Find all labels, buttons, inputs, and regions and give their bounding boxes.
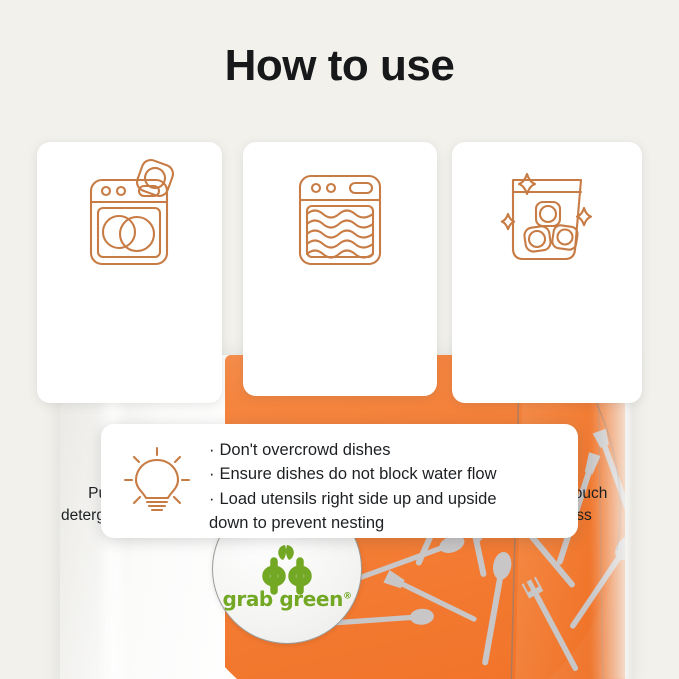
tip-item-text: Don't overcrowd dishes — [220, 441, 391, 459]
tip-bullet-icon: · — [209, 441, 220, 459]
tip-item: ·Don't overcrowd dishes — [209, 438, 568, 462]
how-to-use-infographic: grab green® How to use — [0, 0, 679, 679]
step-card-2: 02. Begin cycle — [243, 142, 437, 396]
lightbulb-icon — [123, 446, 191, 523]
tip-bullet-icon: · — [209, 490, 220, 508]
resealable-pouch-with-pods-icon — [452, 170, 642, 270]
washing-machine-water-cycle-icon — [243, 170, 437, 270]
tip-item: ·Load utensils right side up and upside — [209, 487, 568, 511]
tips-list: ·Don't overcrowd dishes ·Ensure dishes d… — [209, 438, 568, 535]
page-title: How to use — [0, 41, 679, 91]
washing-machine-with-pod-icon — [37, 154, 222, 272]
tip-item-text: Ensure dishes do not block water flow — [220, 465, 497, 483]
tip-item: ·Ensure dishes do not block water flow — [209, 462, 568, 486]
tips-card: ·Don't overcrowd dishes ·Ensure dishes d… — [101, 424, 578, 538]
step-card-1: 01. Put pod into detergent dispenser — [37, 142, 222, 403]
tip-bullet-icon: · — [209, 465, 220, 483]
step-card-3: 03. Reseal the pouch for freshness — [452, 142, 642, 403]
tip-item-continuation: down to prevent nesting — [209, 511, 568, 535]
brand-name: grab green® — [213, 587, 361, 611]
tip-item-text: Load utensils right side up and upside — [220, 490, 497, 508]
